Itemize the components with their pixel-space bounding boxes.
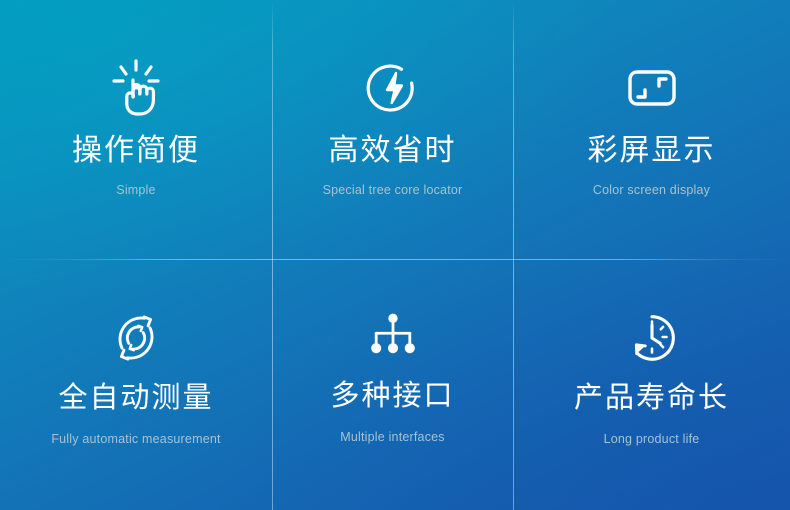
feature-subtitle: Fully automatic measurement xyxy=(51,432,220,447)
feature-subtitle: Simple xyxy=(116,183,155,198)
feature-cell-1: 操作简便 Simple xyxy=(0,0,272,259)
feature-title: 多种接口 xyxy=(330,381,454,413)
feature-cell-4: 全自动测量 Fully automatic measurement xyxy=(0,259,272,510)
feature-cell-5: 多种接口 Multiple interfaces xyxy=(272,259,513,510)
feature-title: 高效省时 xyxy=(329,134,457,167)
fullscreen-screen-icon xyxy=(622,58,682,118)
tap-hand-icon xyxy=(106,58,166,118)
sync-arrows-icon xyxy=(107,309,165,367)
feature-cell-6: 产品寿命长 Long product life xyxy=(513,259,790,510)
feature-banner: 操作简便 Simple 高效省时 Special tree core locat… xyxy=(0,0,790,510)
feature-title: 产品寿命长 xyxy=(574,383,729,415)
feature-title: 彩屏显示 xyxy=(588,134,716,167)
feature-subtitle: Color screen display xyxy=(593,183,710,198)
feature-grid: 操作简便 Simple 高效省时 Special tree core locat… xyxy=(0,0,790,510)
feature-subtitle: Multiple interfaces xyxy=(340,430,445,445)
lightning-bolt-circle-icon xyxy=(363,58,423,118)
feature-cell-3: 彩屏显示 Color screen display xyxy=(513,0,790,259)
feature-title: 操作简便 xyxy=(72,134,200,167)
hierarchy-tree-icon xyxy=(365,309,421,365)
feature-title: 全自动测量 xyxy=(58,383,213,415)
feature-subtitle: Special tree core locator xyxy=(323,183,463,198)
clock-history-icon xyxy=(623,309,681,367)
feature-cell-2: 高效省时 Special tree core locator xyxy=(272,0,513,259)
feature-subtitle: Long product life xyxy=(604,432,700,447)
